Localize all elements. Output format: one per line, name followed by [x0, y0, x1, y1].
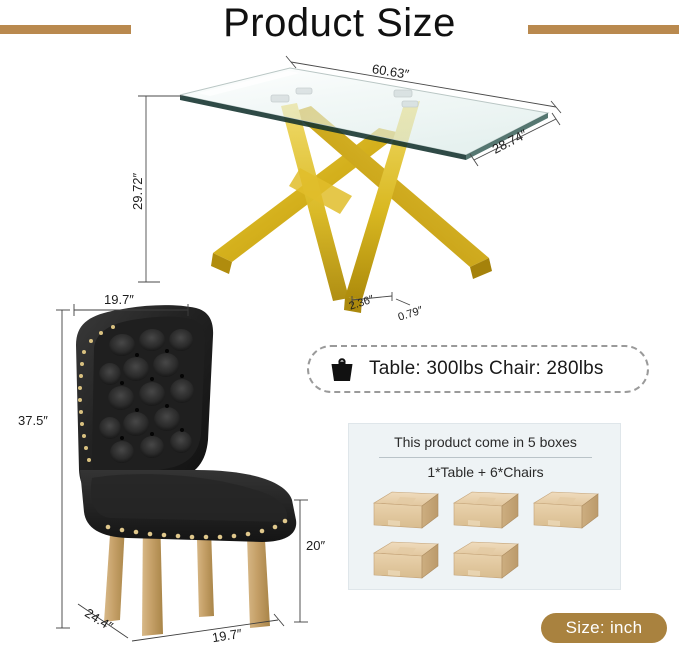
size-unit-badge: Size: inch: [541, 613, 667, 643]
header: Product Size: [0, 0, 679, 58]
table-depth-label: 28.74″: [490, 126, 530, 156]
weight-capacity-badge: Table: 300lbs Chair: 280lbs: [307, 345, 649, 393]
table-leg-thickness-label: 0.79″: [396, 303, 425, 325]
carton-box: [450, 537, 522, 583]
carton-box: [370, 537, 442, 583]
product-size-infographic: Product Size: [0, 0, 679, 652]
chair-total-height-label: 37.5″: [18, 413, 48, 428]
carton-box: [530, 487, 602, 533]
page-title: Product Size: [0, 0, 679, 46]
carton-spacer: [530, 537, 602, 583]
table-leg-width-label: 2.36″: [347, 292, 376, 314]
chair-back-width-label: 19.7″: [104, 292, 134, 307]
chair-depth-label: 24.4″: [82, 605, 115, 634]
carton-row-top: [359, 487, 612, 533]
package-divider: [379, 457, 592, 458]
carton-row-bottom: [359, 537, 612, 583]
carton-box: [370, 487, 442, 533]
chair-seat-width-label: 19.7″: [211, 626, 243, 645]
package-info-panel: This product come in 5 boxes 1*Table + 6…: [348, 423, 621, 590]
carton-grid: [359, 487, 612, 587]
table-height-label: 29.72″: [130, 173, 145, 210]
weight-icon: [327, 354, 357, 384]
chair-seat-height-label: 20″: [306, 538, 325, 553]
carton-box: [450, 487, 522, 533]
package-title: This product come in 5 boxes: [349, 434, 622, 450]
package-contents: 1*Table + 6*Chairs: [349, 464, 622, 480]
table-width-label: 60.63″: [371, 61, 410, 82]
weight-capacity-text: Table: 300lbs Chair: 280lbs: [369, 358, 604, 380]
